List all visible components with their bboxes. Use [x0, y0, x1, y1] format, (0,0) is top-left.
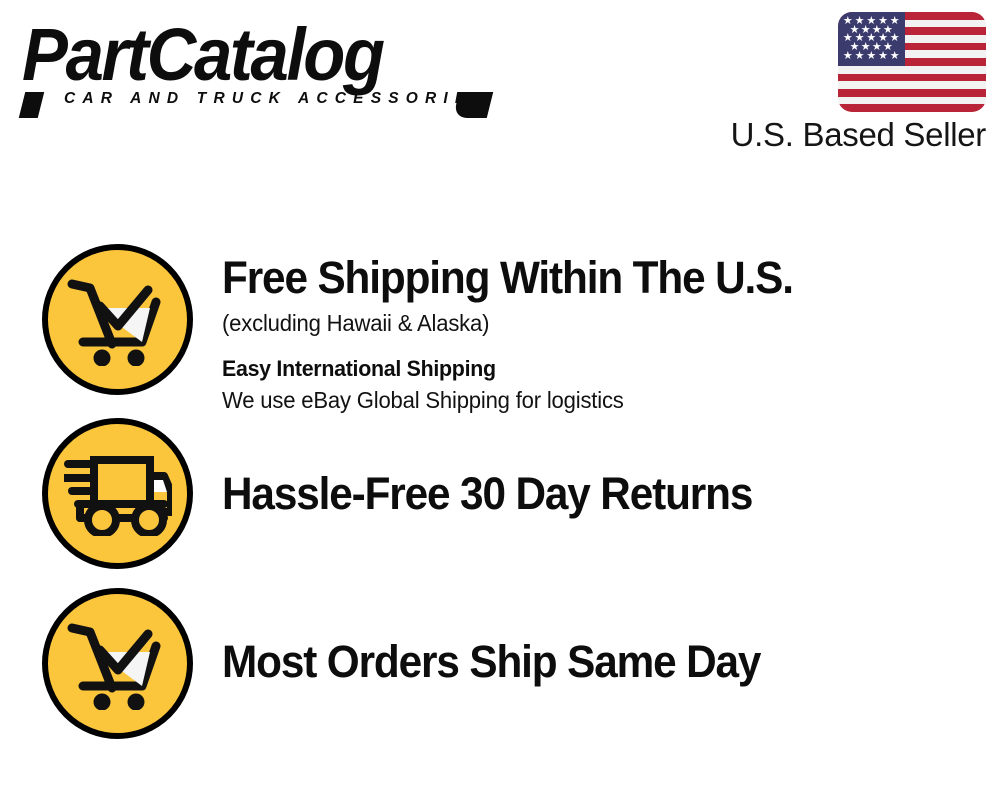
- feature-subtext-detail: We use eBay Global Shipping for logistic…: [222, 385, 952, 416]
- feature-row: Hassle-Free 30 Day Returns: [0, 414, 1000, 580]
- star-icon: ★: [878, 51, 888, 62]
- star-icon: ★: [866, 51, 876, 62]
- brand-logo: PartCatalog CAR AND TRUCK ACCESSORIES: [22, 18, 492, 118]
- flag-canton: ★★★★★ ★★★★ ★★★★★ ★★★★ ★★★★★: [838, 12, 905, 66]
- feature-heading: Hassle-Free 30 Day Returns: [222, 468, 936, 520]
- delivery-truck-icon: [42, 418, 193, 569]
- feature-text-block: Free Shipping Within The U.S. (excluding…: [222, 252, 982, 416]
- feature-heading: Most Orders Ship Same Day: [222, 636, 936, 688]
- us-based-seller-label: U.S. Based Seller: [724, 116, 986, 154]
- feature-text-block: Hassle-Free 30 Day Returns: [222, 468, 982, 520]
- flag-star-row: ★★★★★: [842, 52, 901, 61]
- feature-row: Most Orders Ship Same Day: [0, 584, 1000, 754]
- us-flag-icon: ★★★★★ ★★★★ ★★★★★ ★★★★ ★★★★★: [838, 12, 986, 112]
- star-icon: ★: [843, 51, 853, 62]
- feature-heading: Free Shipping Within The U.S.: [222, 252, 936, 304]
- feature-text-block: Most Orders Ship Same Day: [222, 636, 982, 688]
- brand-wordmark: PartCatalog: [22, 18, 459, 92]
- shopping-cart-check-icon: [42, 244, 193, 395]
- logo-slash-right-decoration: [453, 92, 493, 118]
- feature-row: Free Shipping Within The U.S. (excluding…: [0, 240, 1000, 412]
- star-icon: ★: [890, 51, 900, 62]
- star-icon: ★: [855, 51, 865, 62]
- feature-subtext-strong: Easy International Shipping: [222, 352, 944, 385]
- feature-subtext: (excluding Hawaii & Alaska): [222, 308, 952, 339]
- promo-banner: PartCatalog CAR AND TRUCK ACCESSORIES ★★…: [0, 0, 1000, 800]
- shopping-cart-check-icon: [42, 588, 193, 739]
